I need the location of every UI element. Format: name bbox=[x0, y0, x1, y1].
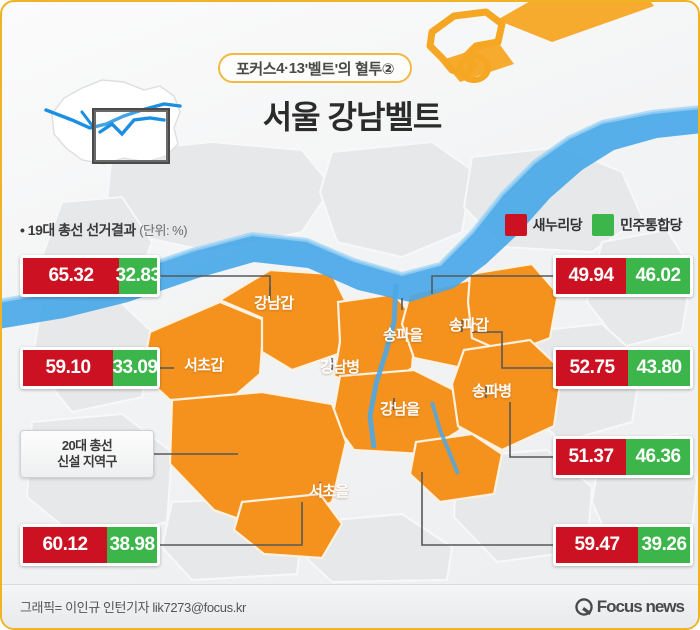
district-label: 송파병 bbox=[472, 380, 511, 401]
focus-news-mark-icon bbox=[575, 598, 593, 616]
result-value-saenuri: 65.32 bbox=[23, 258, 119, 294]
result-value-minju: 39.26 bbox=[638, 527, 690, 563]
district-label: 송파갑 bbox=[449, 314, 488, 335]
result-value-saenuri: 59.47 bbox=[556, 527, 638, 563]
badge-prefix: 포커스 bbox=[236, 58, 276, 79]
legend-item-saenuri: 새누리당 bbox=[505, 214, 583, 236]
district-label: 강남갑 bbox=[254, 292, 293, 313]
legend-label-saenuri: 새누리당 bbox=[533, 215, 583, 235]
footer: 그래픽= 이인규 인턴기자 lik7273@focus.kr Focus new… bbox=[2, 584, 700, 628]
brand-logo: Focus news bbox=[575, 597, 684, 617]
result-value-minju: 33.09 bbox=[113, 350, 157, 386]
result-box: 60.1238.98 bbox=[20, 524, 160, 566]
result-value-saenuri: 52.75 bbox=[556, 350, 628, 386]
badge-suffix: '벨트'의 혈투② bbox=[305, 58, 394, 79]
result-value-saenuri: 60.12 bbox=[23, 527, 107, 563]
result-value-minju: 38.98 bbox=[107, 527, 157, 563]
new-district-note-line1: 20대 총선 bbox=[62, 438, 112, 454]
legend-swatch-green bbox=[592, 214, 614, 236]
result-value-saenuri: 51.37 bbox=[556, 439, 626, 475]
infographic-root: 포커스 4·13 '벨트'의 혈투② 서울 강남벨트 • 19대 총선 선거결과… bbox=[0, 0, 700, 630]
subtitle-unit: (단위: %) bbox=[139, 223, 187, 238]
result-box: 52.7543.80 bbox=[553, 347, 693, 389]
district-label: 송파을 bbox=[383, 324, 422, 345]
legend: 새누리당 민주통합당 bbox=[505, 214, 682, 236]
result-box: 51.3746.36 bbox=[553, 436, 693, 478]
result-box: 49.9446.02 bbox=[553, 255, 693, 297]
legend-swatch-red bbox=[505, 214, 527, 236]
credit-text: 그래픽= 이인규 인턴기자 lik7273@focus.kr bbox=[20, 597, 246, 616]
subtitle-text: • 19대 총선 선거결과 bbox=[20, 222, 136, 238]
district-label: 강남을 bbox=[380, 398, 419, 419]
district-label: 서초갑 bbox=[184, 354, 223, 375]
result-value-saenuri: 49.94 bbox=[556, 258, 626, 294]
result-value-minju: 32.83 bbox=[119, 258, 157, 294]
result-box: 59.4739.26 bbox=[553, 524, 693, 566]
new-district-note-line2: 신설 지역구 bbox=[57, 454, 117, 470]
district-label: 강남병 bbox=[320, 356, 359, 377]
result-value-minju: 43.80 bbox=[628, 350, 690, 386]
legend-label-minju: 민주통합당 bbox=[620, 215, 682, 235]
result-value-minju: 46.36 bbox=[626, 439, 690, 475]
result-value-minju: 46.02 bbox=[626, 258, 690, 294]
subtitle: • 19대 총선 선거결과 (단위: %) bbox=[20, 220, 187, 240]
new-district-note: 20대 총선 신설 지역구 bbox=[20, 430, 154, 478]
district-label: 서초을 bbox=[309, 480, 348, 501]
header-badge: 포커스 4·13 '벨트'의 혈투② bbox=[218, 53, 412, 83]
brand-name: Focus news bbox=[597, 597, 684, 617]
legend-item-minju: 민주통합당 bbox=[592, 214, 682, 236]
page-title: 서울 강남벨트 bbox=[2, 92, 700, 138]
result-box: 59.1033.09 bbox=[20, 347, 160, 389]
result-value-saenuri: 59.10 bbox=[23, 350, 113, 386]
badge-accent: 4·13 bbox=[276, 60, 304, 77]
result-box: 65.3232.83 bbox=[20, 255, 160, 297]
